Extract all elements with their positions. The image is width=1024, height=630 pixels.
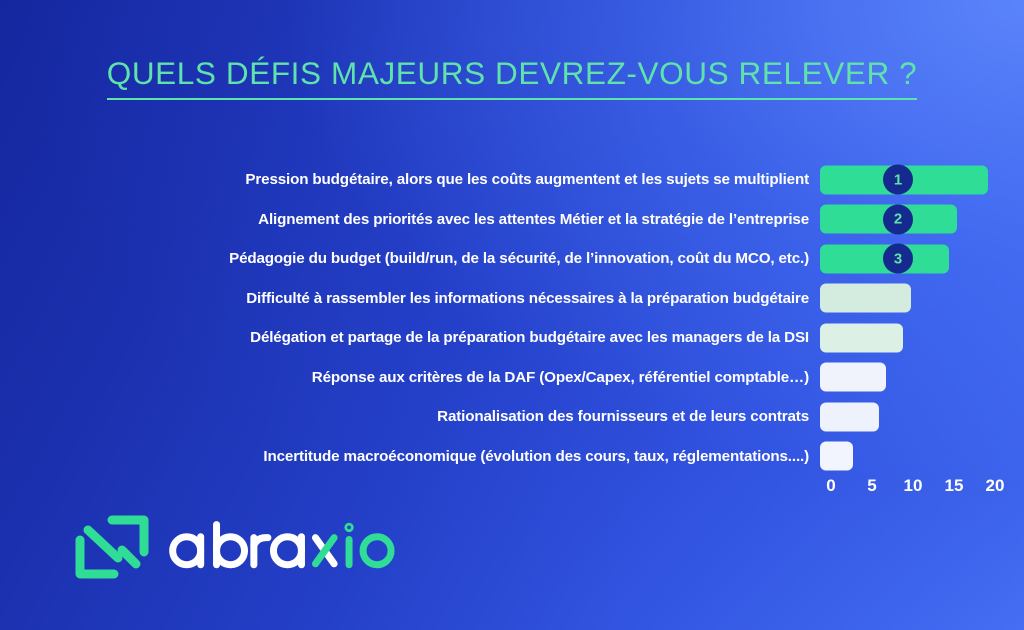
bar-category-label: Incertitude macroéconomique (évolution d… — [0, 448, 820, 465]
bar-category-label: Réponse aux critères de la DAF (Opex/Cap… — [0, 369, 820, 386]
bar-category-label: Pression budgétaire, alors que les coûts… — [0, 171, 820, 188]
bar-track — [820, 437, 1013, 477]
bar-category-label: Rationalisation des fournisseurs et de l… — [0, 408, 820, 425]
axis-tick-label: 15 — [945, 476, 964, 496]
bar-track — [820, 279, 1013, 319]
abraxio-wordmark — [168, 519, 401, 575]
bar-row-list: Pression budgétaire, alors que les coûts… — [0, 160, 1024, 476]
axis-tick-label: 0 — [826, 476, 835, 496]
horizontal-bar-chart: Pression budgétaire, alors que les coûts… — [0, 160, 1024, 480]
bar-track: 3 — [820, 239, 1013, 279]
bar-row: Délégation et partage de la préparation … — [0, 318, 1024, 358]
slide-canvas: QUELS DÉFIS MAJEURS DEVREZ-VOUS RELEVER … — [0, 0, 1024, 630]
bar: 2 — [820, 205, 957, 234]
bar-category-label: Délégation et partage de la préparation … — [0, 329, 820, 346]
axis-tick-label: 20 — [986, 476, 1005, 496]
bar-row: Incertitude macroéconomique (évolution d… — [0, 437, 1024, 477]
x-axis: 05101520 — [820, 476, 1020, 502]
rank-badge: 3 — [883, 244, 913, 274]
bar-track — [820, 358, 1013, 398]
bar-row: Difficulté à rassembler les informations… — [0, 279, 1024, 319]
bar — [820, 442, 853, 471]
bar-track — [820, 318, 1013, 358]
bar-category-label: Difficulté à rassembler les informations… — [0, 290, 820, 307]
rank-badge: 2 — [883, 204, 913, 234]
bar-category-label: Alignement des priorités avec les attent… — [0, 211, 820, 228]
bar-row: Réponse aux critères de la DAF (Opex/Cap… — [0, 358, 1024, 398]
bar — [820, 284, 911, 313]
bar-row: Pression budgétaire, alors que les coûts… — [0, 160, 1024, 200]
bar — [820, 363, 886, 392]
abraxio-logo — [74, 512, 401, 582]
bar-row: Pédagogie du budget (build/run, de la sé… — [0, 239, 1024, 279]
bar-track — [820, 397, 1013, 437]
title-container: QUELS DÉFIS MAJEURS DEVREZ-VOUS RELEVER … — [0, 55, 1024, 100]
bar-category-label: Pédagogie du budget (build/run, de la sé… — [0, 250, 820, 267]
abraxio-x-mark-icon — [74, 512, 150, 582]
bar: 3 — [820, 244, 949, 273]
bar — [820, 402, 879, 431]
bar-track: 2 — [820, 200, 1013, 240]
page-title: QUELS DÉFIS MAJEURS DEVREZ-VOUS RELEVER … — [107, 55, 918, 100]
bar — [820, 323, 903, 352]
bar: 1 — [820, 165, 988, 194]
axis-tick-label: 5 — [867, 476, 876, 496]
bar-track: 1 — [820, 160, 1013, 200]
bar-row: Rationalisation des fournisseurs et de l… — [0, 397, 1024, 437]
bar-row: Alignement des priorités avec les attent… — [0, 200, 1024, 240]
rank-badge: 1 — [883, 165, 913, 195]
axis-tick-label: 10 — [904, 476, 923, 496]
